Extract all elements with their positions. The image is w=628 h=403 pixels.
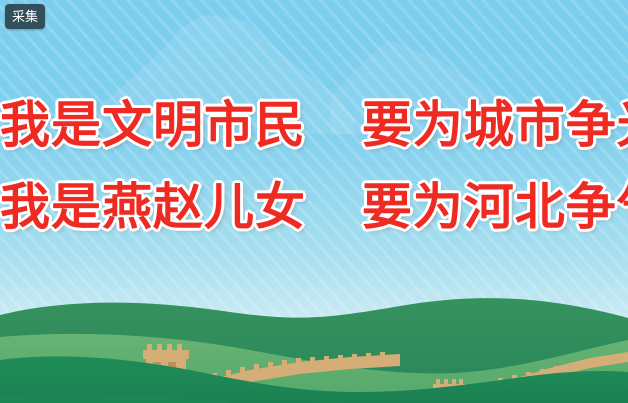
slogan-line-2-right: 要为河北争气 xyxy=(362,182,628,232)
slogan-line-1: 我是文明市民 要为城市争光 xyxy=(0,100,628,150)
slogan-line-1-left: 我是文明市民 xyxy=(0,100,306,150)
slogan-line-2: 我是燕赵儿女 要为河北争气 xyxy=(0,182,628,232)
collect-button[interactable]: 采集 xyxy=(5,4,45,29)
banner-image: 我是文明市民 要为城市争光 我是燕赵儿女 要为河北争气 采集 xyxy=(0,0,628,403)
slogan-line-2-left: 我是燕赵儿女 xyxy=(0,182,306,232)
slogan-line-1-right: 要为城市争光 xyxy=(362,100,628,150)
